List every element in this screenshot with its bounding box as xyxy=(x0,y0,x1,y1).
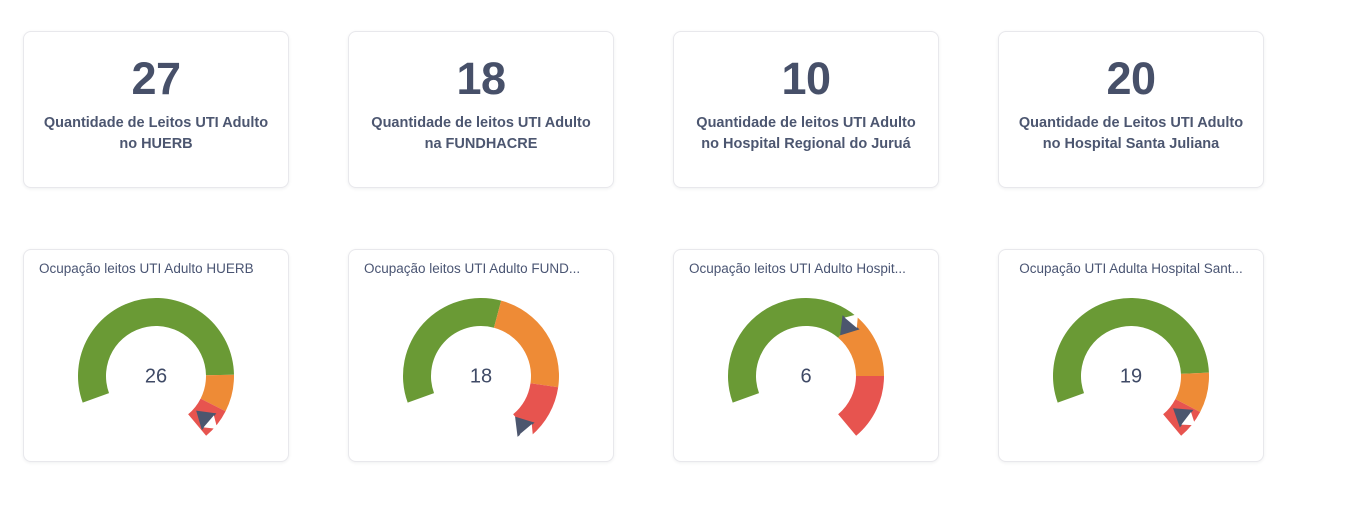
kpi-card-fundhacre[interactable]: 18 Quantidade de leitos UTI Adulto na FU… xyxy=(348,31,614,188)
gauge-card-jurua[interactable]: Ocupação leitos UTI Adulto Hospit... 6 xyxy=(673,249,939,462)
gauge-card-fundhacre[interactable]: Ocupação leitos UTI Adulto FUND... 18 xyxy=(348,249,614,462)
gauge-band-ok xyxy=(728,298,856,403)
kpi-label: Quantidade de Leitos UTI Adulto no HUERB xyxy=(38,113,274,155)
gauge-cell-3: Ocupação leitos UTI Adulto Hospit... 6 xyxy=(673,249,939,462)
kpi-value: 27 xyxy=(131,50,180,108)
gauge-title: Ocupação leitos UTI Adulto HUERB xyxy=(36,260,276,278)
gauge-card-huerb[interactable]: Ocupação leitos UTI Adulto HUERB 26 xyxy=(23,249,289,462)
gauge-svg: 6 xyxy=(701,284,911,449)
gauge-band-critico xyxy=(838,376,884,436)
kpi-card-santa-juliana[interactable]: 20 Quantidade de Leitos UTI Adulto no Ho… xyxy=(998,31,1264,188)
kpi-cell-4: 20 Quantidade de Leitos UTI Adulto no Ho… xyxy=(998,31,1264,188)
gauge-cell-4: Ocupação UTI Adulta Hospital Sant... 19 xyxy=(998,249,1264,462)
gauge-svg: 18 xyxy=(376,284,586,449)
gauge-value-label: 26 xyxy=(145,365,167,387)
gauge-value-label: 19 xyxy=(1120,365,1142,387)
gauge-svg: 19 xyxy=(1026,284,1236,449)
kpi-label: Quantidade de leitos UTI Adulto na FUNDH… xyxy=(363,113,599,155)
gauge-chart-jurua[interactable]: 6 xyxy=(686,280,926,453)
gauge-cell-1: Ocupação leitos UTI Adulto HUERB 26 xyxy=(23,249,289,462)
kpi-value: 18 xyxy=(456,50,505,108)
gauge-title: Ocupação leitos UTI Adulto FUND... xyxy=(361,260,601,278)
gauge-chart-santa-juliana[interactable]: 19 xyxy=(1011,280,1251,453)
kpi-row: 27 Quantidade de Leitos UTI Adulto no HU… xyxy=(0,31,1347,188)
gauge-svg: 26 xyxy=(51,284,261,449)
kpi-cell-1: 27 Quantidade de Leitos UTI Adulto no HU… xyxy=(23,31,289,188)
gauge-cell-2: Ocupação leitos UTI Adulto FUND... 18 xyxy=(348,249,614,462)
dashboard-root: 27 Quantidade de Leitos UTI Adulto no HU… xyxy=(0,0,1347,513)
gauge-row: Ocupação leitos UTI Adulto HUERB 26 Ocup… xyxy=(0,249,1347,462)
kpi-card-jurua[interactable]: 10 Quantidade de leitos UTI Adulto no Ho… xyxy=(673,31,939,188)
gauge-card-santa-juliana[interactable]: Ocupação UTI Adulta Hospital Sant... 19 xyxy=(998,249,1264,462)
gauge-band-alerta xyxy=(494,301,559,388)
gauge-chart-fundhacre[interactable]: 18 xyxy=(361,280,601,453)
kpi-label: Quantidade de leitos UTI Adulto no Hospi… xyxy=(688,113,924,155)
kpi-label: Quantidade de Leitos UTI Adulto no Hospi… xyxy=(1013,113,1249,155)
gauge-value-label: 6 xyxy=(800,365,811,387)
kpi-cell-2: 18 Quantidade de leitos UTI Adulto na FU… xyxy=(348,31,614,188)
gauge-title: Ocupação leitos UTI Adulto Hospit... xyxy=(686,260,926,278)
kpi-value: 20 xyxy=(1106,50,1155,108)
kpi-cell-3: 10 Quantidade de leitos UTI Adulto no Ho… xyxy=(673,31,939,188)
gauge-title: Ocupação UTI Adulta Hospital Sant... xyxy=(1011,260,1251,278)
kpi-value: 10 xyxy=(781,50,830,108)
gauge-value-label: 18 xyxy=(470,365,492,387)
kpi-card-huerb[interactable]: 27 Quantidade de Leitos UTI Adulto no HU… xyxy=(23,31,289,188)
gauge-chart-huerb[interactable]: 26 xyxy=(36,280,276,453)
